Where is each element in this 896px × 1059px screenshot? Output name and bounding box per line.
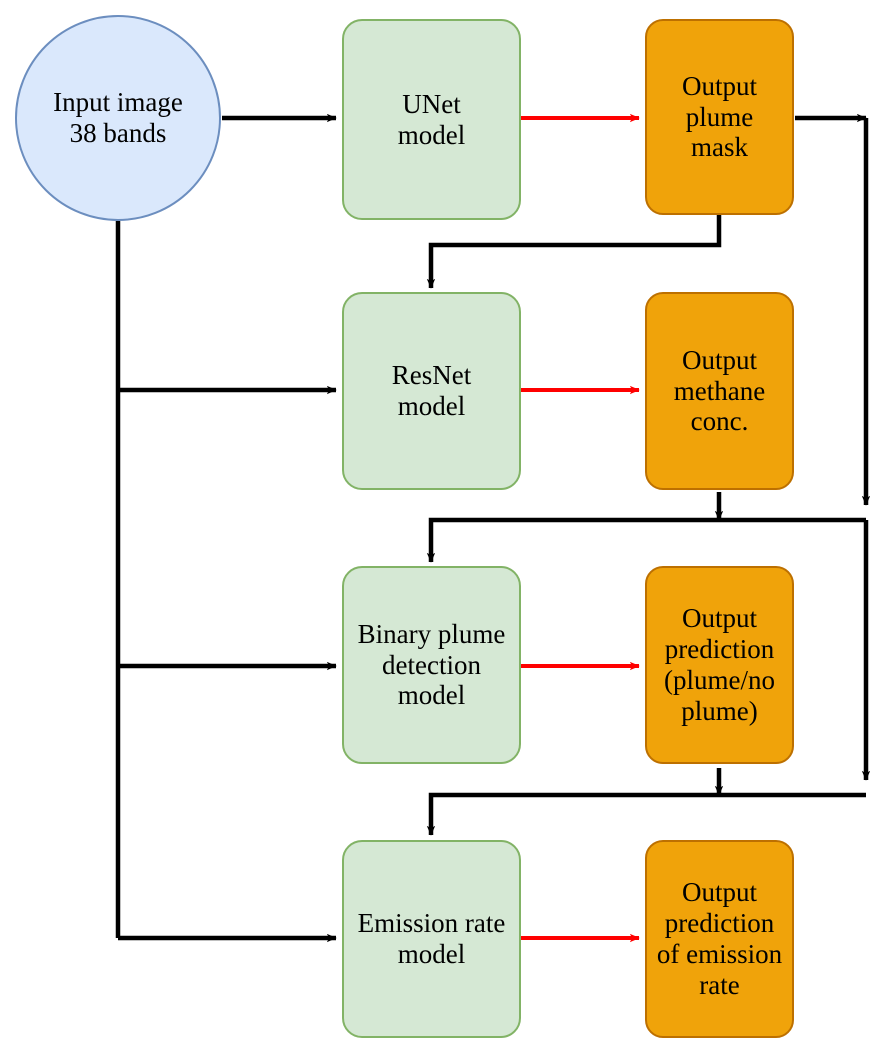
node-resnet-model-label: ResNet model xyxy=(388,360,475,422)
node-output-plume-mask[interactable]: Output plume mask xyxy=(645,19,794,215)
node-emission-rate-model-label: Emission rate model xyxy=(354,908,510,970)
flowchart-diagram: Input image 38 bands UNet model Output p… xyxy=(0,0,896,1059)
node-output-emission-rate-prediction-label: Output prediction of emission rate xyxy=(653,877,786,1000)
node-output-emission-rate-prediction[interactable]: Output prediction of emission rate xyxy=(645,840,794,1038)
node-unet-model[interactable]: UNet model xyxy=(342,19,521,220)
node-input-image[interactable]: Input image 38 bands xyxy=(15,15,221,221)
node-output-methane-conc-label: Output methane conc. xyxy=(670,345,769,437)
node-binary-plume-detection-model[interactable]: Binary plume detection model xyxy=(342,566,521,764)
node-output-plume-mask-label: Output plume mask xyxy=(678,71,761,163)
node-input-image-label: Input image 38 bands xyxy=(49,87,187,149)
edge-row2-horizontal-bus xyxy=(431,520,866,562)
node-output-binary-prediction[interactable]: Output prediction (plume/no plume) xyxy=(645,566,794,764)
node-binary-plume-detection-model-label: Binary plume detection model xyxy=(354,619,510,711)
node-resnet-model[interactable]: ResNet model xyxy=(342,292,521,490)
node-output-methane-conc[interactable]: Output methane conc. xyxy=(645,292,794,490)
node-output-binary-prediction-label: Output prediction (plume/no plume) xyxy=(660,603,779,726)
edge-plume-mask-to-resnet xyxy=(431,215,719,288)
node-unet-model-label: UNet model xyxy=(394,89,470,151)
edge-row3-horizontal-bus xyxy=(431,795,866,835)
node-emission-rate-model[interactable]: Emission rate model xyxy=(342,840,521,1038)
